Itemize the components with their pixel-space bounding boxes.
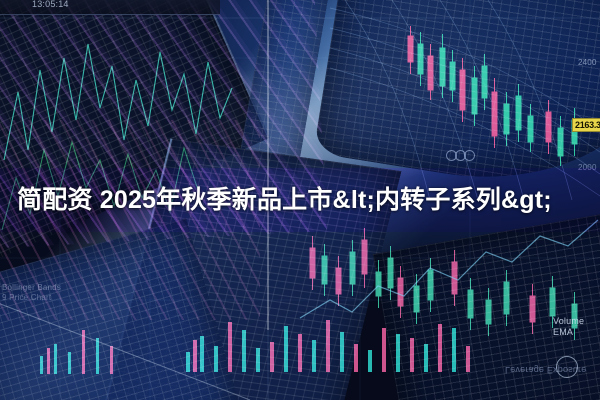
screenshot-canvas: 13:05:14 2400 2000 2163.3 Bollinger Band… <box>0 0 600 400</box>
vignette <box>0 0 600 400</box>
